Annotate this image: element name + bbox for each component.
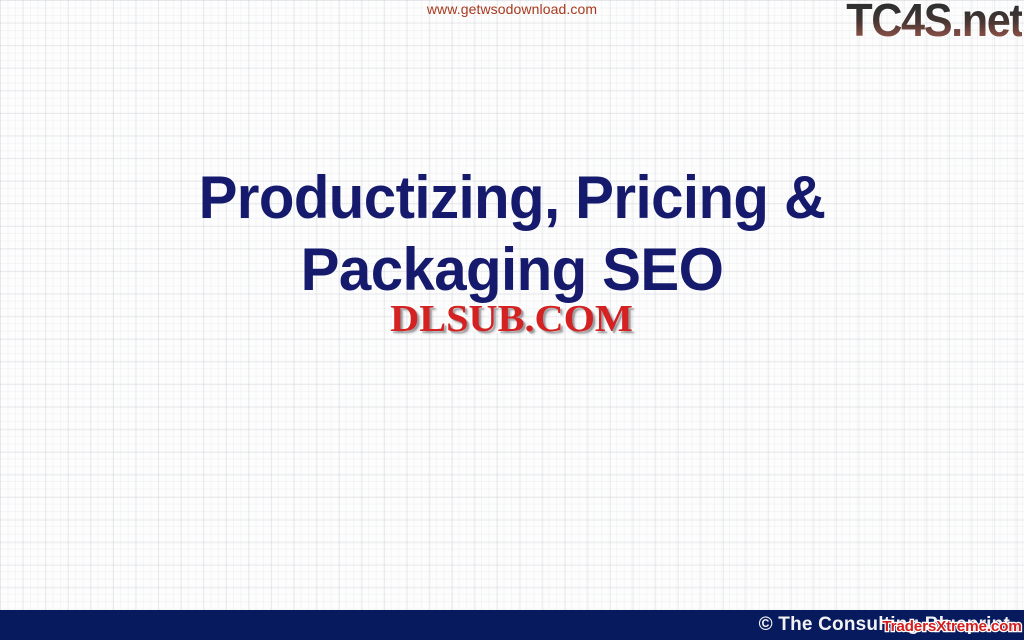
footer-bar: © The Consulting Blueprint (0, 610, 1024, 640)
footer-copyright: © The Consulting Blueprint (759, 614, 1010, 636)
presentation-slide: www.getwsodownload.com TC4S.net Producti… (0, 0, 1024, 640)
watermark-tc4s-net: TC4S.net (846, 0, 1022, 44)
slide-title-line-1: Productizing, Pricing & (15, 162, 1008, 234)
slide-title: Productizing, Pricing & Packaging SEO (0, 162, 1024, 306)
slide-title-line-2: Packaging SEO (15, 234, 1008, 306)
